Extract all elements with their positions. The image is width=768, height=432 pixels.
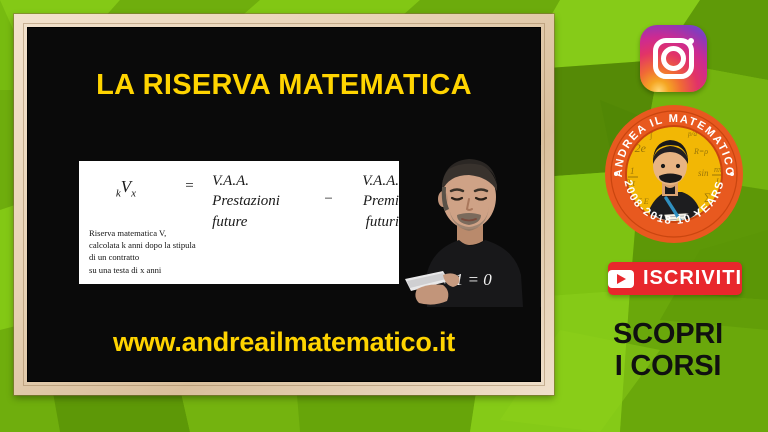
formula-term-left: V.A.A. Prestazioni future: [206, 171, 315, 232]
formula-panel: kVx = V.A.A. Prestazioni future − V.A.A.…: [79, 161, 399, 284]
formula-subscript-x: x: [131, 187, 136, 199]
presenter-photo: + 1 = 0: [399, 145, 541, 307]
formula-symbol-v: V: [121, 177, 131, 196]
svg-text:R=ρ: R=ρ: [693, 147, 708, 156]
poster-canvas: LA RISERVA MATEMATICA kVx = V.A.A. Prest…: [0, 0, 768, 432]
formula-term-left-line1: V.A.A.: [212, 171, 315, 191]
cta-scopri-i-corsi[interactable]: SCOPRI I CORSI: [568, 318, 768, 383]
formula-term-left-line2: Prestazioni: [212, 191, 315, 211]
brand-badge-logo[interactable]: √2e R=ρ 1 2π sin nπ L δ E ∑ ∫ p/a: [604, 104, 744, 244]
instagram-dot-shape: [688, 38, 694, 44]
right-rail: √2e R=ρ 1 2π sin nπ L δ E ∑ ∫ p/a: [568, 0, 768, 432]
formula-term-left-line3: future: [212, 212, 315, 232]
formula-caption: Riserva matematica V, calcolata k anni d…: [89, 227, 196, 276]
picture-frame: LA RISERVA MATEMATICA kVx = V.A.A. Prest…: [14, 14, 554, 395]
formula-term-right-line2: Premi: [342, 191, 399, 211]
instagram-lens-shape: [661, 46, 686, 71]
svg-text:sin: sin: [698, 168, 709, 178]
formula-lhs: kVx: [79, 171, 173, 199]
formula-term-right-line3: futuri: [342, 212, 399, 232]
website-url[interactable]: www.andreailmatematico.it: [27, 327, 541, 358]
formula-term-right-line1: V.A.A.: [342, 171, 399, 191]
cta-line-1: SCOPRI: [568, 318, 768, 350]
svg-text:1: 1: [630, 166, 635, 176]
formula-operator-minus: −: [315, 171, 342, 208]
instagram-icon[interactable]: [640, 25, 707, 92]
formula-equation: kVx = V.A.A. Prestazioni future − V.A.A.…: [79, 171, 399, 232]
youtube-subscribe-button[interactable]: ISCRIVITI: [608, 262, 742, 295]
cta-line-2: I CORSI: [568, 350, 768, 382]
youtube-subscribe-label: ISCRIVITI: [643, 267, 742, 290]
formula-term-right: V.A.A. Premi futuri: [342, 171, 399, 232]
page-title: LA RISERVA MATEMATICA: [27, 69, 541, 102]
formula-equals: =: [173, 171, 206, 195]
youtube-play-icon: [608, 270, 634, 288]
black-board: LA RISERVA MATEMATICA kVx = V.A.A. Prest…: [27, 27, 541, 382]
